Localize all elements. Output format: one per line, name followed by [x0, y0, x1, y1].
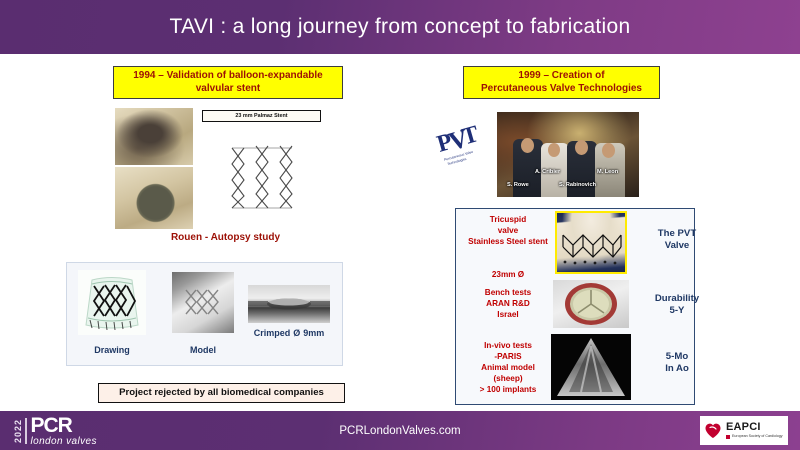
person-head [575, 140, 588, 155]
stent-mesh-overlay [196, 108, 336, 229]
stent-caption-label: 23 mm Palmaz Stent [202, 110, 321, 122]
row-label-pvt-valve: The PVTValve [641, 228, 713, 253]
drawing-caption: Drawing [78, 345, 146, 355]
crimped-valve-photo [248, 285, 330, 323]
project-rejected-note: Project rejected by all biomedical compa… [98, 383, 345, 403]
person-head [602, 143, 615, 158]
right-header-box: 1999 – Creation of Percutaneous Valve Te… [463, 66, 660, 99]
autopsy-study-caption: Rouen - Autopsy study [115, 232, 336, 243]
photo-name-cribier: A. Cribier [535, 169, 560, 175]
slide: TAVI : a long journey from concept to fa… [0, 0, 800, 450]
eapci-logo: EAPCI European Society of Cardiology [700, 416, 788, 445]
crimped-label-text: Crimped [254, 328, 291, 338]
autopsy-photo-top [115, 108, 193, 165]
eapci-subtitle: European Society of Cardiology [732, 435, 783, 439]
heart-icon [704, 422, 722, 440]
autopsy-photo-bottom [115, 167, 193, 229]
model-caption: Model [168, 345, 238, 355]
valve-drawing-image [78, 270, 146, 335]
person-head [521, 138, 534, 153]
palmaz-stent-autopsy-photo [196, 108, 336, 229]
pvt-logo-icon: P V T Percutaneous Valve Technologies [430, 118, 490, 168]
crimped-diameter-value: 9mm [303, 328, 324, 338]
valve-stent-mesh [557, 213, 625, 272]
row-label-5mo-in-ao: 5-MoIn Ao [641, 351, 713, 376]
person-head [548, 143, 560, 157]
slide-footer: 2022 PCR london valves PCRLondonValves.c… [0, 411, 800, 450]
photo-name-rowe: S. Rowe [507, 182, 529, 188]
page-title: TAVI : a long journey from concept to fa… [170, 15, 631, 39]
crimped-detail-svg [248, 285, 330, 323]
photo-name-rabinovich: S. Rabinovich [559, 182, 596, 188]
photo-name-leon: M. Leon [597, 169, 618, 175]
crimped-caption: Crimped Ø 9mm [240, 328, 338, 338]
footer-url: PCRLondonValves.com [0, 411, 800, 450]
left-header-box: 1994 – Validation of balloon-expandable … [113, 66, 343, 99]
valve-leaflets-svg [553, 280, 629, 328]
echo-sector-svg [551, 334, 631, 400]
slide-title-bar: TAVI : a long journey from concept to fa… [0, 0, 800, 54]
right-header-line2: Percutaneous Valve Technologies [481, 83, 642, 94]
diameter-icon: Ø [293, 328, 300, 338]
echocardiogram-photo [551, 334, 631, 400]
eapci-name: EAPCI [726, 422, 783, 433]
eapci-square-icon [726, 435, 730, 439]
eapci-subtitle-row: European Society of Cardiology [726, 435, 783, 439]
valve-model-photo [172, 272, 234, 333]
row-text-tricuspid-valve: TricuspidvalveStainless Steel stent23mm … [462, 214, 554, 280]
pvt-valve-photo [555, 211, 627, 274]
valve-top-view-photo [553, 280, 629, 328]
pvt-founders-photo: A. Cribier M. Leon S. Rowe S. Rabinovich [497, 112, 639, 197]
pvt-logo: P V T Percutaneous Valve Technologies [430, 118, 490, 168]
right-header-line1: 1999 – Creation of [518, 70, 604, 81]
row-text-bench-tests: Bench testsARAN R&DIsrael [462, 287, 554, 320]
stent-drawing-svg [78, 270, 146, 335]
row-text-in-vivo-tests: In-vivo tests-PARISAnimal model(sheep)> … [462, 340, 554, 395]
row-label-durability: Durability5-Y [641, 293, 713, 318]
model-mesh-overlay [172, 272, 234, 333]
